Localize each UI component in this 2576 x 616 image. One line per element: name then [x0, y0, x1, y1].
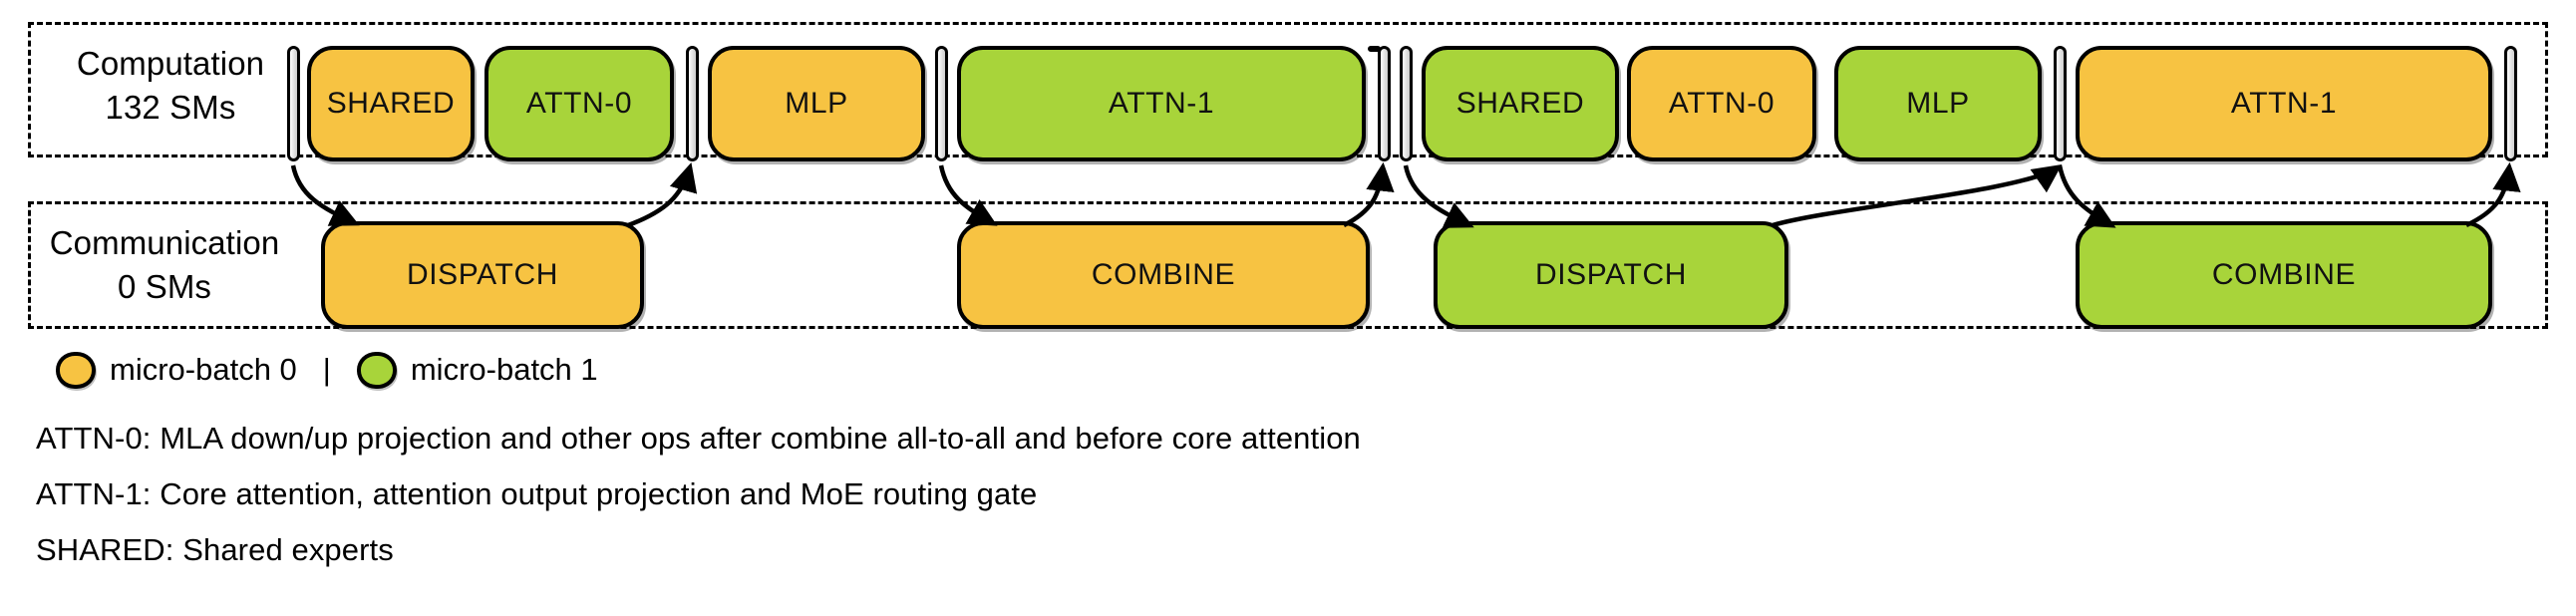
compute-block-label: SHARED [1456, 87, 1585, 121]
communication-lane-label: Communication 0 SMs [34, 221, 295, 308]
legend-swatch-micro-batch-0 [56, 352, 96, 389]
compute-block-label: ATTN-0 [1669, 87, 1774, 121]
legend-label-micro-batch-1: micro-batch 1 [411, 352, 598, 388]
computation-lane-sms: 132 SMs [46, 86, 295, 130]
compute-block-mlp-0[interactable]: MLP [708, 46, 925, 161]
barrier-5 [2054, 46, 2067, 161]
comm-block-label: COMBINE [1092, 258, 1235, 292]
comm-block-label: COMBINE [2212, 258, 2356, 292]
communication-lane-sms: 0 SMs [34, 265, 295, 309]
compute-block-label: SHARED [327, 87, 456, 121]
compute-block-shared-1[interactable]: SHARED [1422, 46, 1619, 161]
barrier-0 [287, 46, 300, 161]
comm-block-label: DISPATCH [1535, 258, 1687, 292]
compute-block-mlp-1[interactable]: MLP [1834, 46, 2042, 161]
compute-block-label: MLP [1906, 87, 1970, 121]
comm-block-combine-1[interactable]: COMBINE [2076, 221, 2492, 329]
compute-block-label: ATTN-1 [2231, 87, 2337, 121]
compute-block-shared-0[interactable]: SHARED [307, 46, 475, 161]
compute-block-attn0-0[interactable]: ATTN-0 [484, 46, 674, 161]
barrier-4a [1368, 46, 1381, 52]
comm-block-dispatch-1[interactable]: DISPATCH [1434, 221, 1788, 329]
compute-block-label: ATTN-1 [1109, 87, 1214, 121]
compute-block-attn0-1[interactable]: ATTN-0 [1627, 46, 1816, 161]
compute-block-attn1-1[interactable]: ATTN-1 [2076, 46, 2492, 161]
barrier-3a [1378, 46, 1391, 161]
barrier-6 [2504, 46, 2517, 161]
legend-separator: | [323, 352, 331, 388]
comm-block-label: DISPATCH [407, 258, 558, 292]
comm-block-dispatch-0[interactable]: DISPATCH [321, 221, 644, 329]
barrier-1 [686, 46, 699, 161]
compute-block-label: MLP [785, 87, 848, 121]
computation-lane-name: Computation [77, 45, 264, 82]
note-attn-1: ATTN-1: Core attention, attention output… [36, 476, 1037, 512]
legend: micro-batch 0 | micro-batch 1 [56, 349, 598, 391]
barrier-2 [935, 46, 948, 161]
figure-canvas: Computation 132 SMs Communication 0 SMs … [0, 0, 2576, 616]
barrier-3b [1400, 46, 1413, 161]
note-attn-0: ATTN-0: MLA down/up projection and other… [36, 421, 1361, 457]
compute-block-attn1-0[interactable]: ATTN-1 [957, 46, 1366, 161]
computation-lane-label: Computation 132 SMs [46, 42, 295, 129]
communication-lane-name: Communication [50, 224, 280, 261]
note-shared: SHARED: Shared experts [36, 532, 394, 568]
comm-block-combine-0[interactable]: COMBINE [957, 221, 1370, 329]
legend-swatch-micro-batch-1 [357, 352, 397, 389]
legend-label-micro-batch-0: micro-batch 0 [110, 352, 297, 388]
compute-block-label: ATTN-0 [526, 87, 632, 121]
